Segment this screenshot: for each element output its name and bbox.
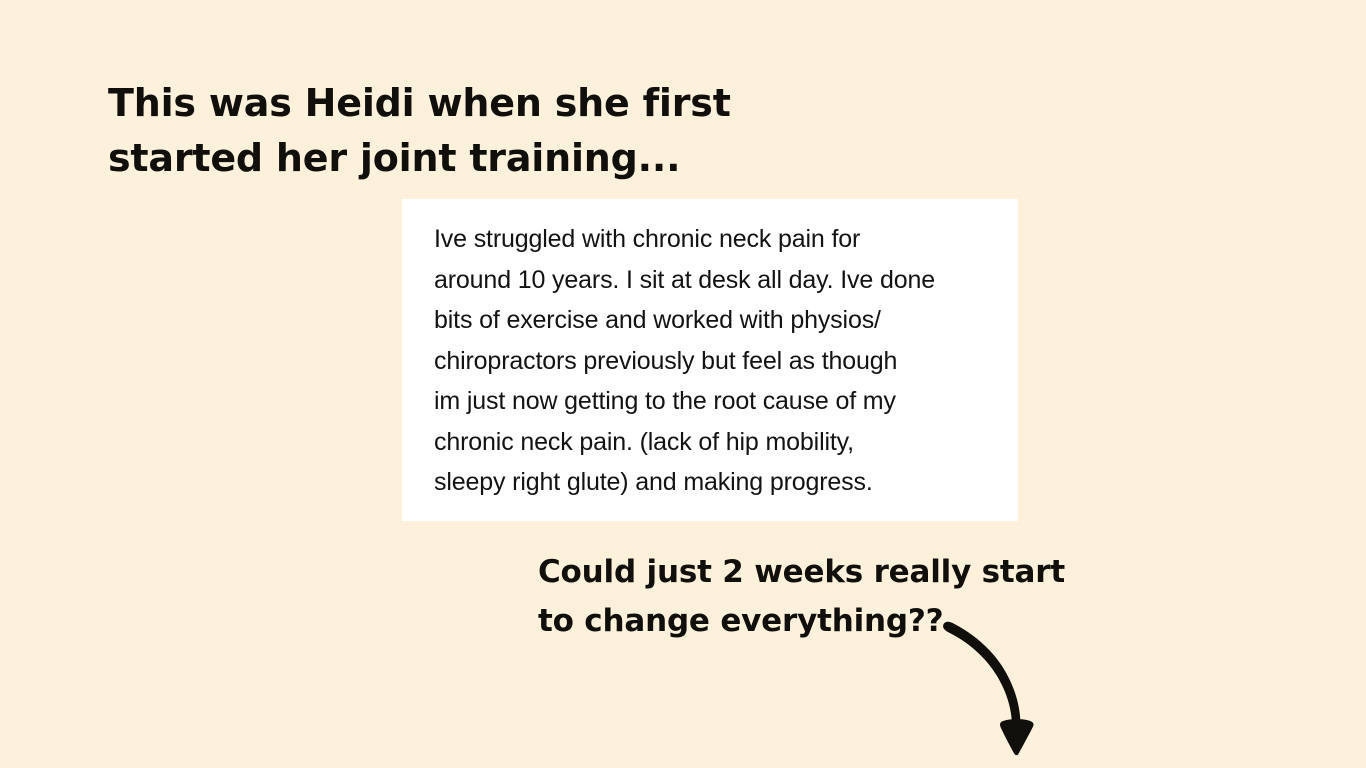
caption-text: Could just 2 weeks really start to chang… xyxy=(538,548,1098,646)
slide-canvas: This was Heidi when she first started he… xyxy=(0,0,1366,768)
page-title: This was Heidi when she first started he… xyxy=(108,76,808,186)
testimonial-card: Ive struggled with chronic neck pain for… xyxy=(402,199,1018,521)
testimonial-quote-text: Ive struggled with chronic neck pain for… xyxy=(434,219,988,503)
